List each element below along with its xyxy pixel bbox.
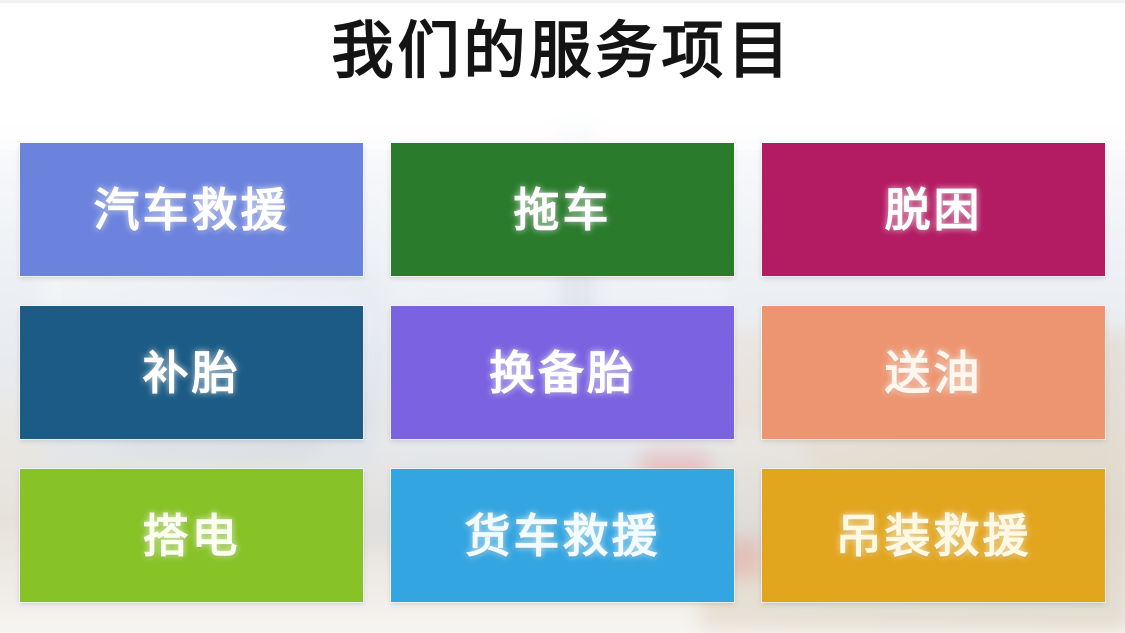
service-tile-fuel-delivery[interactable]: 送油 — [762, 306, 1105, 439]
service-tile-crane-hoist-rescue[interactable]: 吊装救援 — [762, 469, 1105, 602]
service-tile-tire-repair[interactable]: 补胎 — [20, 306, 363, 439]
service-poster: 我们的服务项目 汽车救援 拖车 脱困 补胎 换备胎 送油 搭电 货车救援 吊装救… — [0, 0, 1125, 633]
service-tile-jump-start[interactable]: 搭电 — [20, 469, 363, 602]
service-tile-label: 脱困 — [885, 187, 983, 233]
service-tile-label: 换备胎 — [489, 350, 636, 396]
background-top-edge-line — [0, 0, 1125, 3]
page-title-text: 我们的服务项目 — [331, 18, 793, 83]
service-tile-label: 汽车救援 — [94, 187, 290, 233]
service-tile-truck-rescue[interactable]: 货车救援 — [391, 469, 734, 602]
service-tile-label: 拖车 — [514, 187, 612, 233]
service-tile-spare-tire-change[interactable]: 换备胎 — [391, 306, 734, 439]
service-grid: 汽车救援 拖车 脱困 补胎 换备胎 送油 搭电 货车救援 吊装救援 — [20, 143, 1105, 601]
service-tile-label: 搭电 — [143, 513, 241, 559]
page-title: 我们的服务项目 — [0, 18, 1125, 83]
service-tile-tow-truck[interactable]: 拖车 — [391, 143, 734, 276]
service-tile-label: 送油 — [885, 350, 983, 396]
service-tile-label: 货车救援 — [465, 513, 661, 559]
service-tile-extrication[interactable]: 脱困 — [762, 143, 1105, 276]
service-tile-label: 补胎 — [143, 350, 241, 396]
service-tile-label: 吊装救援 — [836, 513, 1032, 559]
service-tile-car-rescue[interactable]: 汽车救援 — [20, 143, 363, 276]
